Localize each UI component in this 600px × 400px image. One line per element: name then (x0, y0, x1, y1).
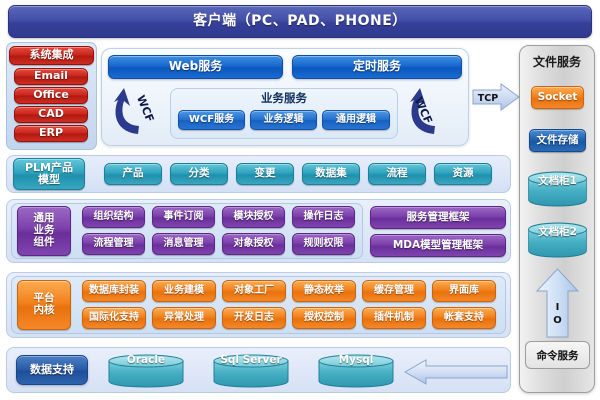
core-item-dev-log[interactable]: 开发日志 (222, 307, 286, 329)
tcp-label: TCP (478, 93, 498, 104)
plm-title: PLM产品 模型 (13, 158, 85, 190)
business-service-title: 业务服务 (170, 90, 398, 106)
cbc-item-process-mgmt[interactable]: 流程管理 (82, 233, 145, 255)
common-components-title-line3: 组件 (34, 237, 55, 249)
system-integration-item-cad[interactable]: CAD (14, 106, 88, 123)
client-banner: 客户端（PC、PAD、PHONE） (8, 5, 592, 38)
core-item-ui-library[interactable]: 界面库 (432, 280, 496, 302)
document-cabinet-cylinder-2[interactable] (527, 222, 588, 258)
database-cylinder-oracle[interactable] (107, 354, 185, 388)
common-logic-box[interactable]: 通用逻辑 (322, 110, 390, 130)
core-item-object-factory[interactable]: 对象工厂 (222, 280, 286, 302)
cbc-item-operation-log[interactable]: 操作日志 (292, 206, 355, 228)
cbc-item-module-auth[interactable]: 模块授权 (222, 206, 285, 228)
io-label-line1: I (556, 302, 560, 313)
io-arrow-up-icon: I O (536, 268, 579, 338)
file-service-title: 文件服务 (519, 52, 595, 70)
core-item-business-modeling[interactable]: 业务建模 (152, 280, 216, 302)
system-integration-item-office[interactable]: Office (14, 87, 88, 104)
mda-model-management-framework[interactable]: MDA模型管理框架 (370, 234, 506, 257)
command-service-box[interactable]: 命令服务 (525, 341, 590, 369)
cbc-item-org-structure[interactable]: 组织结构 (82, 206, 145, 228)
platform-core-title: 平台 内核 (17, 280, 71, 330)
core-item-cache-mgmt[interactable]: 缓存管理 (362, 280, 426, 302)
document-cabinet-cylinder-1[interactable] (527, 171, 588, 207)
database-cylinder-sqlserver[interactable] (212, 354, 290, 388)
plm-item-product[interactable]: 产品 (104, 163, 162, 185)
system-integration-item-email[interactable]: Email (14, 68, 88, 85)
wcf-arrow-left-icon: WCF (108, 80, 166, 142)
core-item-exception-handling[interactable]: 异常处理 (152, 307, 216, 329)
core-item-plugin-mechanism[interactable]: 插件机制 (362, 307, 426, 329)
system-integration-title: 系统集成 (9, 46, 94, 65)
cbc-item-event-subscribe[interactable]: 事件订阅 (152, 206, 215, 228)
wcf-arrow-right-icon: WCF (404, 80, 462, 142)
wcf-service-box[interactable]: WCF服务 (178, 110, 245, 130)
data-support-title: 数据支持 (16, 355, 88, 385)
io-label-line2: O (553, 315, 562, 326)
core-item-account-set-support[interactable]: 帐套支持 (432, 307, 496, 329)
plm-item-category[interactable]: 分类 (170, 163, 228, 185)
tcp-arrow-icon: TCP (472, 82, 520, 112)
socket-box[interactable]: Socket (531, 86, 584, 109)
web-service-box[interactable]: Web服务 (108, 55, 283, 79)
core-item-i18n-support[interactable]: 国际化支持 (82, 307, 146, 329)
core-item-static-enum[interactable]: 静态枚举 (292, 280, 356, 302)
service-management-framework[interactable]: 服务管理框架 (370, 206, 506, 229)
core-item-db-encapsulation[interactable]: 数据库封装 (82, 280, 146, 302)
plm-item-resource[interactable]: 资源 (434, 163, 492, 185)
business-logic-box[interactable]: 业务逻辑 (250, 110, 317, 130)
plm-title-line2: 模型 (38, 174, 60, 186)
cbc-item-rule-permission[interactable]: 规则权限 (292, 233, 355, 255)
plm-item-dataset[interactable]: 数据集 (302, 163, 360, 185)
database-cylinder-mysql[interactable] (317, 354, 395, 388)
architecture-diagram: 客户端（PC、PAD、PHONE） 系统集成 Email Office CAD … (0, 0, 600, 400)
plm-item-change[interactable]: 变更 (236, 163, 294, 185)
plm-item-process[interactable]: 流程 (368, 163, 426, 185)
file-storage-box[interactable]: 文件存储 (529, 129, 586, 152)
platform-core-title-line2: 内核 (34, 305, 55, 317)
core-item-auth-control[interactable]: 授权控制 (292, 307, 356, 329)
timer-service-box[interactable]: 定时服务 (292, 55, 462, 79)
cbc-item-message-mgmt[interactable]: 消息管理 (152, 233, 215, 255)
system-integration-item-erp[interactable]: ERP (14, 125, 88, 142)
common-components-title: 通用 业务 组件 (17, 206, 71, 256)
data-flow-arrow-left-icon (404, 359, 508, 385)
cbc-item-object-auth[interactable]: 对象授权 (222, 233, 285, 255)
wcf-left-label: WCF (134, 93, 156, 124)
